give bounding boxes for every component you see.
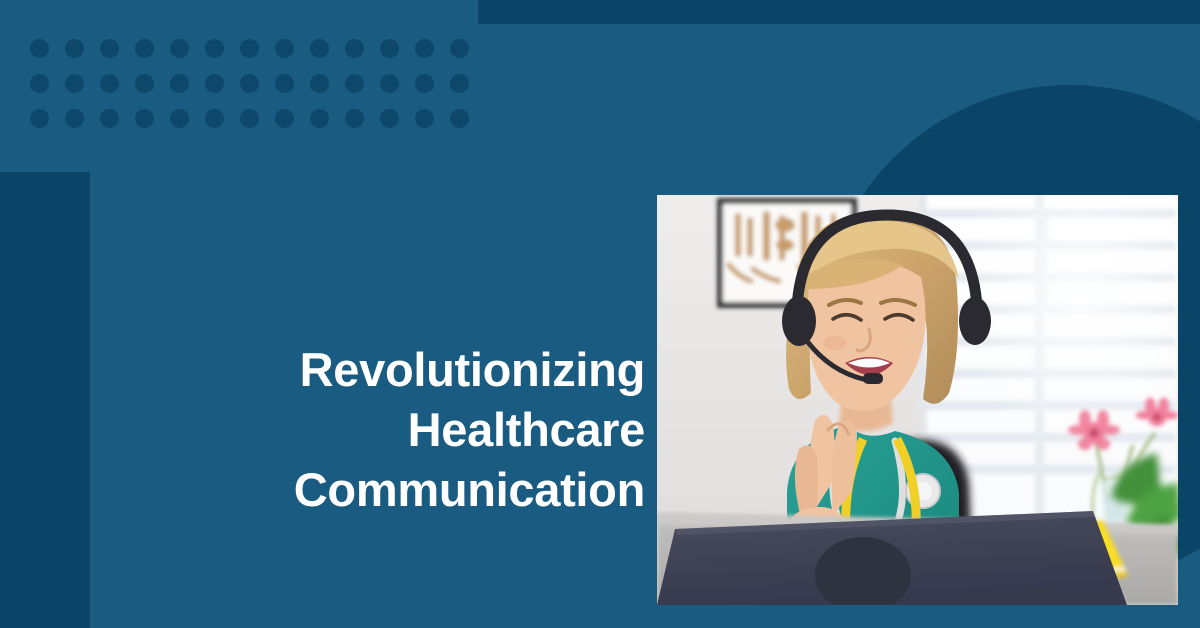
grid-dot (170, 109, 189, 128)
grid-dot (345, 109, 364, 128)
grid-dot (275, 74, 294, 93)
grid-dot (30, 109, 49, 128)
grid-dot (450, 74, 469, 93)
grid-dot (240, 74, 259, 93)
grid-dot (380, 39, 399, 58)
grid-dot (205, 109, 224, 128)
grid-dot (205, 74, 224, 93)
grid-dot (100, 39, 119, 58)
grid-dot (415, 39, 434, 58)
grid-dot (450, 39, 469, 58)
dot-grid (30, 39, 485, 144)
grid-dot (30, 74, 49, 93)
left-dark-block (0, 172, 90, 628)
grid-dot (415, 74, 434, 93)
grid-dot (205, 39, 224, 58)
grid-dot (450, 109, 469, 128)
grid-dot (135, 109, 154, 128)
grid-dot (170, 39, 189, 58)
banner-root: Revolutionizing Healthcare Communication (0, 0, 1200, 628)
headline-line-2: Healthcare (150, 400, 645, 460)
grid-dot (135, 74, 154, 93)
grid-dot (380, 74, 399, 93)
grid-dot (310, 109, 329, 128)
hero-photo (657, 195, 1178, 605)
grid-dot (135, 39, 154, 58)
grid-dot (65, 74, 84, 93)
grid-dot (65, 39, 84, 58)
grid-dot (275, 109, 294, 128)
grid-dot (275, 39, 294, 58)
grid-dot (100, 109, 119, 128)
grid-dot (415, 109, 434, 128)
grid-dot (310, 39, 329, 58)
grid-dot (380, 109, 399, 128)
page-title: Revolutionizing Healthcare Communication (150, 340, 645, 520)
grid-dot (345, 39, 364, 58)
grid-dot (240, 39, 259, 58)
grid-dot (345, 74, 364, 93)
grid-dot (100, 74, 119, 93)
grid-dot (65, 109, 84, 128)
headline-line-3: Communication (150, 460, 645, 520)
hero-photo-illustration (657, 195, 1178, 605)
top-dark-band (478, 0, 1200, 24)
headline-line-1: Revolutionizing (150, 340, 645, 400)
grid-dot (30, 39, 49, 58)
grid-dot (310, 74, 329, 93)
grid-dot (170, 74, 189, 93)
grid-dot (240, 109, 259, 128)
